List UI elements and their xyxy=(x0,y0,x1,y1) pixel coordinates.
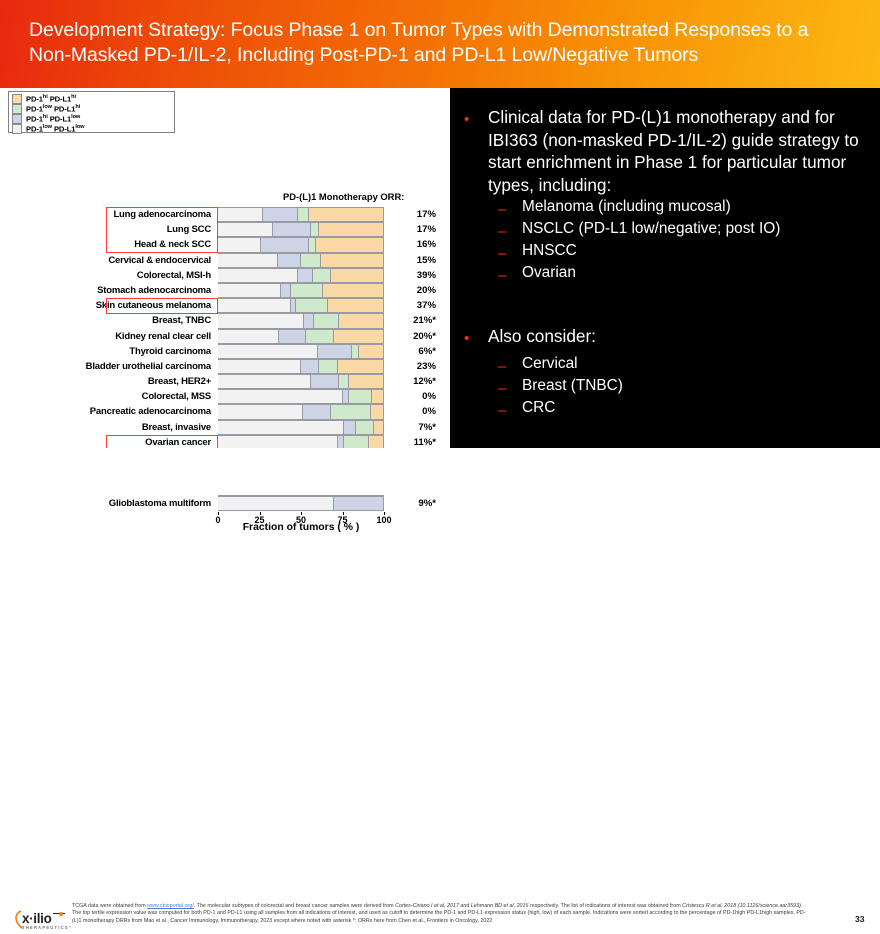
slide-footer: x·ilio THERAPEUTICS° TCGA data were obta… xyxy=(0,448,880,495)
bar-segment xyxy=(218,283,281,298)
y-axis-label: Head & neck SCC xyxy=(60,237,215,252)
bar-segment xyxy=(339,313,384,328)
orr-value: 37% xyxy=(386,298,442,313)
bar-segment xyxy=(296,298,328,313)
bar-segment xyxy=(372,389,384,404)
orr-value: 16% xyxy=(386,237,442,252)
bar-segment xyxy=(218,253,278,268)
bar-segment xyxy=(359,344,384,359)
stacked-bar-row xyxy=(218,329,384,344)
bar-segment xyxy=(291,283,323,298)
stacked-bar-row xyxy=(218,222,384,237)
y-axis-label: Thyroid carcinoma xyxy=(60,344,215,359)
legend-label: PD-1low PD-L1low xyxy=(26,124,84,134)
page-number: 33 xyxy=(855,914,865,924)
orr-value: 20%* xyxy=(386,329,442,344)
page-title: Development Strategy: Focus Phase 1 on T… xyxy=(29,18,853,68)
bar-segment xyxy=(334,329,384,344)
bar-segment xyxy=(281,283,291,298)
legend-label: PD-1hi PD-L1low xyxy=(26,114,80,124)
dash-icon-1a: – xyxy=(498,202,506,217)
orr-column-header: PD-(L)1 Monotherapy ORR: xyxy=(283,191,404,202)
slide-header-banner: Development Strategy: Focus Phase 1 on T… xyxy=(0,0,880,88)
bar-segment xyxy=(311,222,319,237)
bar-segment xyxy=(323,283,384,298)
bullet-text-2: Also consider: xyxy=(488,325,860,348)
orr-value: 0% xyxy=(386,389,442,404)
bar-segment xyxy=(334,496,384,511)
chart-panel: PD-1hi PD-L1hiPD-1low PD-L1hiPD-1hi PD-L… xyxy=(0,88,450,448)
footnote-text: TCGA data were obtained from www.cbiopor… xyxy=(72,903,812,925)
dash-icon-1b: – xyxy=(498,224,506,239)
stacked-bar-row xyxy=(218,237,384,252)
y-axis-label: Kidney renal clear cell xyxy=(60,329,215,344)
bar-segment xyxy=(298,207,310,222)
bar-segment xyxy=(218,207,263,222)
dash-icon-2b: – xyxy=(498,381,506,396)
chart-legend: PD-1hi PD-L1hiPD-1low PD-L1hiPD-1hi PD-L… xyxy=(8,91,175,133)
dash-icon-2c: – xyxy=(498,403,506,418)
y-axis-label: Skin cutaneous melanoma xyxy=(60,298,215,313)
stacked-bar-row xyxy=(218,374,384,389)
bar-segment xyxy=(309,237,316,252)
orr-value: 0% xyxy=(386,404,442,419)
bullet-text-1: Clinical data for PD-(L)1 monotherapy an… xyxy=(488,106,860,196)
orr-value: 39% xyxy=(386,268,442,283)
legend-swatch-icon xyxy=(12,124,22,134)
dash-icon-1c: – xyxy=(498,246,506,261)
sub-bullet-1c: HNSCC xyxy=(522,240,872,261)
stacked-bar-row xyxy=(218,344,384,359)
bar-segment xyxy=(356,420,374,435)
y-axis-label: Breast, invasive xyxy=(60,420,215,435)
bar-segment xyxy=(304,313,314,328)
y-axis-label: Pancreatic adenocarcinoma xyxy=(60,404,215,419)
stacked-bar-row xyxy=(218,268,384,283)
stacked-bar-row xyxy=(218,359,384,374)
bar-segment xyxy=(218,313,304,328)
bar-segment xyxy=(218,389,343,404)
bar-segment xyxy=(218,237,261,252)
orr-value: 20% xyxy=(386,283,442,298)
bar-segment xyxy=(273,222,311,237)
stacked-bar-row xyxy=(218,298,384,313)
legend-label: PD-1hi PD-L1hi xyxy=(26,94,76,104)
bar-segment xyxy=(263,207,298,222)
legend-label: PD-1low PD-L1hi xyxy=(26,104,80,114)
logo-tagline: THERAPEUTICS° xyxy=(22,925,72,930)
y-axis-label: Lung adenocarcinoma xyxy=(60,207,215,222)
bar-segment xyxy=(218,298,291,313)
sub-bullet-1a: Melanoma (including mucosal) xyxy=(522,196,872,217)
bar-segment xyxy=(328,298,384,313)
bullet-icon-1: • xyxy=(464,112,469,127)
stacked-bar-row xyxy=(218,207,384,222)
stacked-bar-row xyxy=(218,283,384,298)
legend-swatch-icon xyxy=(12,114,22,124)
sub-bullet-2c: CRC xyxy=(522,397,872,418)
bar-segment xyxy=(319,222,384,237)
sub-bullet-1b: NSCLC (PD-L1 low/negative; post IO) xyxy=(522,218,872,239)
y-axis-label: Breast, HER2+ xyxy=(60,374,215,389)
bar-segment xyxy=(371,404,384,419)
bar-segment xyxy=(261,237,309,252)
stacked-bar-row xyxy=(218,496,384,511)
bar-segment xyxy=(309,207,384,222)
bar-segment xyxy=(218,420,344,435)
bar-segment xyxy=(279,329,306,344)
y-axis-label: Colorectal, MSI-h xyxy=(60,268,215,283)
orr-value: 15% xyxy=(386,253,442,268)
bar-segment xyxy=(331,268,384,283)
legend-swatch-icon xyxy=(12,104,22,114)
dash-icon-2a: – xyxy=(498,359,506,374)
cbioportal-link[interactable]: www.cbioportal.org/ xyxy=(147,903,194,909)
legend-item-2: PD-1hi PD-L1low xyxy=(12,114,172,124)
bar-segment xyxy=(349,389,372,404)
stacked-bar-row xyxy=(218,389,384,404)
bar-segment xyxy=(218,359,301,374)
bar-segment xyxy=(301,359,319,374)
y-axis-label: Glioblastoma multiform xyxy=(60,496,215,511)
legend-item-0: PD-1hi PD-L1hi xyxy=(12,94,172,104)
bar-segment xyxy=(331,404,371,419)
company-logo: x·ilio THERAPEUTICS° xyxy=(14,910,70,934)
legend-item-3: PD-1low PD-L1low xyxy=(12,124,172,134)
bar-segment xyxy=(218,222,273,237)
orr-value: 6%* xyxy=(386,344,442,359)
sub-bullet-1d: Ovarian xyxy=(522,262,872,283)
y-axis-label: Cervical & endocervical xyxy=(60,253,215,268)
logo-dot-icon xyxy=(59,912,64,917)
bar-segment xyxy=(344,420,356,435)
bar-segment xyxy=(303,404,331,419)
bar-segment xyxy=(343,389,350,404)
sub-bullet-2a: Cervical xyxy=(522,353,872,374)
bar-segment xyxy=(218,374,311,389)
y-axis-label: Lung SCC xyxy=(60,222,215,237)
logo-wordmark: x·ilio xyxy=(22,911,51,926)
bar-segment xyxy=(298,268,313,283)
bar-segment xyxy=(338,359,384,374)
y-axis-label: Bladder urothelial carcinoma xyxy=(60,359,215,374)
bar-segment xyxy=(352,344,359,359)
bar-segment xyxy=(311,374,339,389)
bar-segment xyxy=(321,253,384,268)
bar-segment xyxy=(306,329,334,344)
orr-value: 17% xyxy=(386,207,442,222)
bar-segment xyxy=(218,329,279,344)
orr-value: 9%* xyxy=(386,496,442,511)
bar-segment xyxy=(339,374,349,389)
stacked-bar-row xyxy=(218,420,384,435)
bullet-icon-2: • xyxy=(464,331,469,346)
bar-segment xyxy=(349,374,384,389)
bar-segment xyxy=(218,496,334,511)
bar-segment xyxy=(301,253,321,268)
y-axis-label: Colorectal, MSS xyxy=(60,389,215,404)
legend-swatch-icon xyxy=(12,94,22,104)
orr-value: 23% xyxy=(386,359,442,374)
bar-segment xyxy=(278,253,301,268)
bar-segment xyxy=(218,344,318,359)
bar-segment xyxy=(218,404,303,419)
sub-bullet-2b: Breast (TNBC) xyxy=(522,375,872,396)
y-axis-label: Stomach adenocarcinoma xyxy=(60,283,215,298)
orr-value: 12%* xyxy=(386,374,442,389)
y-axis-label: Breast, TNBC xyxy=(60,313,215,328)
bar-segment xyxy=(318,344,353,359)
bar-segment xyxy=(314,313,339,328)
bar-segment xyxy=(374,420,384,435)
orr-value: 21%* xyxy=(386,313,442,328)
bar-segment xyxy=(316,237,384,252)
stacked-bar-row xyxy=(218,404,384,419)
stacked-bar-row xyxy=(218,253,384,268)
orr-value: 7%* xyxy=(386,420,442,435)
legend-item-1: PD-1low PD-L1hi xyxy=(12,104,172,114)
stacked-bar-row xyxy=(218,313,384,328)
slide: Development Strategy: Focus Phase 1 on T… xyxy=(0,0,880,495)
dash-icon-1d: – xyxy=(498,268,506,283)
bar-segment xyxy=(319,359,337,374)
bar-segment xyxy=(313,268,331,283)
x-axis-title: Fraction of tumors ( % ) xyxy=(218,522,384,533)
commentary-panel: • Clinical data for PD-(L)1 monotherapy … xyxy=(450,88,880,448)
orr-value: 17% xyxy=(386,222,442,237)
bar-segment xyxy=(218,268,298,283)
